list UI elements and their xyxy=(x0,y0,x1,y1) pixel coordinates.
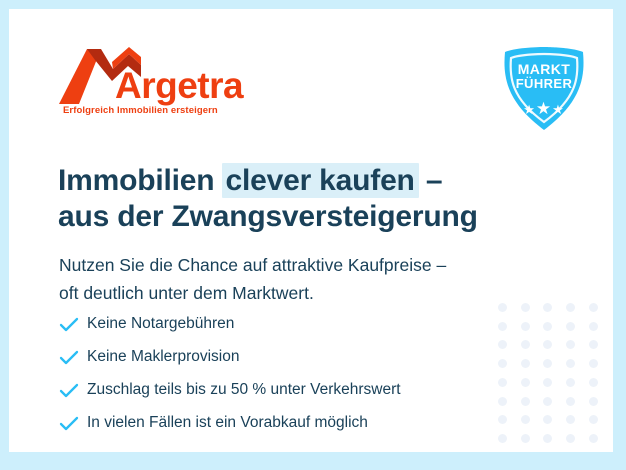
dot xyxy=(566,397,575,406)
check-icon xyxy=(59,416,87,432)
subtitle-line-1: Nutzen Sie die Chance auf attraktive Kau… xyxy=(59,251,579,279)
dot xyxy=(589,415,598,424)
logo-tagline: Erfolgreich Immobilien ersteigern xyxy=(63,105,218,116)
brand-logo[interactable]: Argetra Erfolgreich Immobilien ersteiger… xyxy=(57,47,257,119)
headline-prefix: Immobilien xyxy=(58,164,223,197)
dot xyxy=(589,378,598,387)
subtitle: Nutzen Sie die Chance auf attraktive Kau… xyxy=(59,251,579,307)
feature-label: In vielen Fällen ist ein Vorabkauf mögli… xyxy=(87,414,368,433)
dot xyxy=(566,378,575,387)
subtitle-line-2: oft deutlich unter dem Marktwert. xyxy=(59,279,579,307)
list-item: Keine Notargebühren xyxy=(59,308,559,341)
feature-list: Keine Notargebühren Keine Maklerprovisio… xyxy=(59,308,559,440)
list-item: In vielen Fällen ist ein Vorabkauf mögli… xyxy=(59,407,559,440)
badge-stars: ★★★ xyxy=(497,99,591,119)
dot xyxy=(589,303,598,312)
dot xyxy=(566,322,575,331)
dot xyxy=(566,340,575,349)
star-icon: ★ xyxy=(523,102,536,117)
dot xyxy=(589,340,598,349)
page-title: Immobilien clever kaufen – aus der Zwang… xyxy=(58,163,578,235)
feature-label: Keine Notargebühren xyxy=(87,315,234,334)
dot xyxy=(589,397,598,406)
list-item: Keine Maklerprovision xyxy=(59,341,559,374)
dot xyxy=(589,322,598,331)
feature-label: Keine Maklerprovision xyxy=(87,348,240,367)
feature-label: Zuschlag teils bis zu 50 % unter Verkehr… xyxy=(87,381,401,400)
headline-highlight: clever kaufen xyxy=(222,163,419,198)
list-item: Zuschlag teils bis zu 50 % unter Verkehr… xyxy=(59,374,559,407)
badge-line-1: MARKT xyxy=(497,62,591,77)
dot xyxy=(566,359,575,368)
dot xyxy=(589,434,598,443)
dot xyxy=(566,434,575,443)
market-leader-badge: MARKT FÜHRER ★★★ xyxy=(497,45,591,133)
card-canvas: Argetra Erfolgreich Immobilien ersteiger… xyxy=(9,9,613,452)
badge-text: MARKT FÜHRER xyxy=(497,62,591,90)
badge-line-2: FÜHRER xyxy=(497,77,591,91)
check-icon xyxy=(59,350,87,366)
star-icon: ★ xyxy=(536,99,552,118)
check-icon xyxy=(59,317,87,333)
check-icon xyxy=(59,383,87,399)
dot xyxy=(566,415,575,424)
advertisement-card: Argetra Erfolgreich Immobilien ersteiger… xyxy=(0,0,626,470)
logo-wordmark: Argetra xyxy=(115,67,243,104)
dot xyxy=(589,359,598,368)
star-icon: ★ xyxy=(552,102,565,117)
headline-line-2: aus der Zwangsversteigerung xyxy=(58,199,578,235)
headline-suffix: – xyxy=(418,164,443,197)
